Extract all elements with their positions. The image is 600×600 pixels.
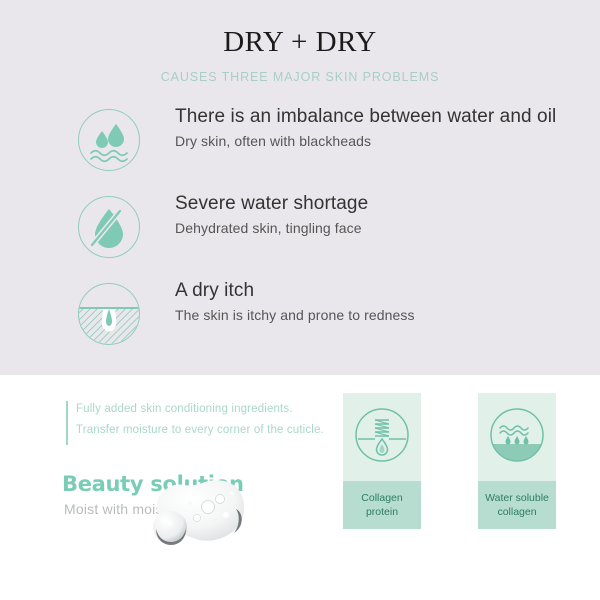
dry-skin-pore-icon bbox=[78, 283, 140, 345]
product-cream-image bbox=[150, 473, 268, 559]
ingredient-label-line-2: collagen bbox=[485, 505, 549, 519]
problem-subtitle: Dry skin, often with blackheads bbox=[175, 133, 585, 149]
problems-section: DRY + DRY CAUSES THREE MAJOR SKIN PROBLE… bbox=[0, 0, 600, 375]
ingredient-card[interactable]: Water soluble collagen bbox=[478, 393, 556, 515]
ingredient-icon-area bbox=[343, 393, 421, 481]
ingredient-label-line-1: Water soluble bbox=[485, 491, 549, 505]
collagen-fiber-droplet-icon bbox=[353, 406, 411, 469]
infographic-page: DRY + DRY CAUSES THREE MAJOR SKIN PROBLE… bbox=[0, 0, 600, 600]
problem-title: Severe water shortage bbox=[175, 192, 585, 216]
no-water-droplet-icon bbox=[78, 196, 140, 258]
ingredient-label: Collagen protein bbox=[361, 491, 402, 519]
problem-item: There is an imbalance between water and … bbox=[0, 105, 600, 189]
page-subtitle: CAUSES THREE MAJOR SKIN PROBLEMS bbox=[0, 70, 600, 84]
problem-subtitle: The skin is itchy and prone to redness bbox=[175, 307, 585, 323]
water-droplets-waves-icon bbox=[78, 109, 140, 171]
problem-item: Severe water shortage Dehydrated skin, t… bbox=[0, 192, 600, 276]
problem-text: A dry itch The skin is itchy and prone t… bbox=[175, 279, 585, 323]
problem-title: A dry itch bbox=[175, 279, 585, 303]
ingredient-icon-area bbox=[478, 393, 556, 481]
ingredient-label-line-1: Collagen bbox=[361, 491, 402, 505]
solution-tagline: Fully added skin conditioning ingredient… bbox=[76, 399, 336, 441]
problem-text: Severe water shortage Dehydrated skin, t… bbox=[175, 192, 585, 236]
ingredient-label-area: Collagen protein bbox=[343, 481, 421, 529]
ingredient-label-line-2: protein bbox=[361, 505, 402, 519]
page-title: DRY + DRY bbox=[0, 26, 600, 59]
problem-title: There is an imbalance between water and … bbox=[175, 105, 585, 129]
tagline-line-2: Transfer moisture to every corner of the… bbox=[76, 420, 336, 441]
tagline-line-1: Fully added skin conditioning ingredient… bbox=[76, 399, 336, 420]
solution-section: Fully added skin conditioning ingredient… bbox=[0, 375, 600, 600]
ingredient-label-area: Water soluble collagen bbox=[478, 481, 556, 529]
ingredient-card[interactable]: Collagen protein bbox=[343, 393, 421, 515]
problem-text: There is an imbalance between water and … bbox=[175, 105, 585, 149]
water-waves-droplets-icon bbox=[488, 406, 546, 469]
ingredient-label: Water soluble collagen bbox=[485, 491, 549, 519]
problem-item: A dry itch The skin is itchy and prone t… bbox=[0, 279, 600, 363]
accent-divider bbox=[66, 401, 68, 445]
problem-subtitle: Dehydrated skin, tingling face bbox=[175, 220, 585, 236]
